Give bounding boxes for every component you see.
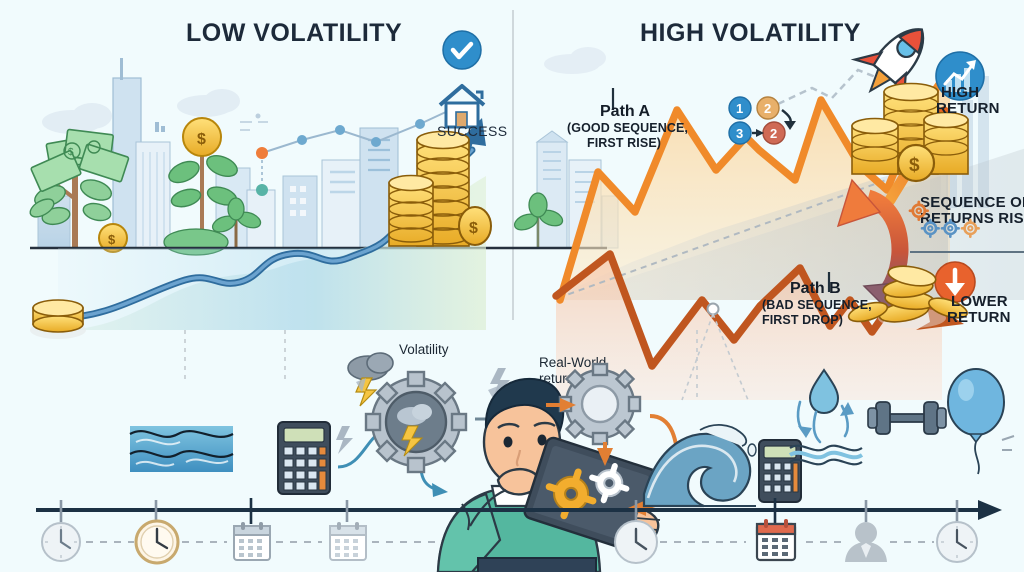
infographic-canvas: LOW VOLATILITY HIGH VOLATILITY	[0, 0, 1024, 572]
path-a-desc-line1: (GOOD SEQUENCE,	[567, 121, 688, 136]
svg-text:$: $	[197, 131, 206, 148]
svg-text:2: 2	[764, 101, 771, 116]
path-b-marker	[708, 304, 719, 315]
path-b-desc-line2: FIRST DROP)	[762, 313, 843, 328]
gear-icon	[942, 220, 959, 237]
gear-icon	[962, 220, 979, 237]
path-a-title: Path A	[600, 103, 650, 121]
dumbbell-icon	[868, 402, 946, 434]
success-label: SUCCESS	[437, 123, 507, 139]
clock-icon	[136, 521, 178, 563]
calendar-icon	[330, 522, 366, 560]
path-a-desc-line2: FIRST RISE)	[587, 136, 661, 151]
sequence-risk-gears	[900, 190, 1024, 238]
clock-icon	[937, 522, 977, 562]
calm-water-icon	[130, 426, 233, 472]
cloud-icon	[544, 47, 606, 74]
calendar-icon	[757, 519, 795, 560]
clock-icon	[42, 523, 80, 561]
timeline-arrowhead	[978, 500, 1002, 520]
balloon-icon	[948, 369, 1014, 474]
svg-text:$: $	[909, 155, 920, 176]
gear-icon	[922, 220, 939, 237]
svg-text:3: 3	[736, 126, 743, 141]
high-return-line2: RETURN	[936, 101, 1000, 118]
path-b-title: Path B	[790, 280, 841, 298]
clock-icon	[615, 521, 657, 563]
gear-icon	[910, 202, 928, 220]
svg-text:$: $	[469, 220, 478, 237]
lower-return-line2: RETURN	[947, 310, 1011, 327]
svg-text:1: 1	[736, 101, 743, 116]
person-icon	[845, 522, 887, 562]
timeline	[0, 480, 1024, 572]
check-circle-icon	[443, 31, 481, 69]
svg-text:2: 2	[770, 126, 777, 141]
path-b-desc-line1: (BAD SEQUENCE,	[762, 298, 872, 313]
house-icon	[440, 86, 484, 127]
svg-text:$: $	[108, 232, 116, 247]
sequence-badges: 1 2 3 2	[729, 97, 796, 144]
svg-text:$: $	[68, 147, 74, 158]
calendar-icon	[234, 522, 270, 560]
